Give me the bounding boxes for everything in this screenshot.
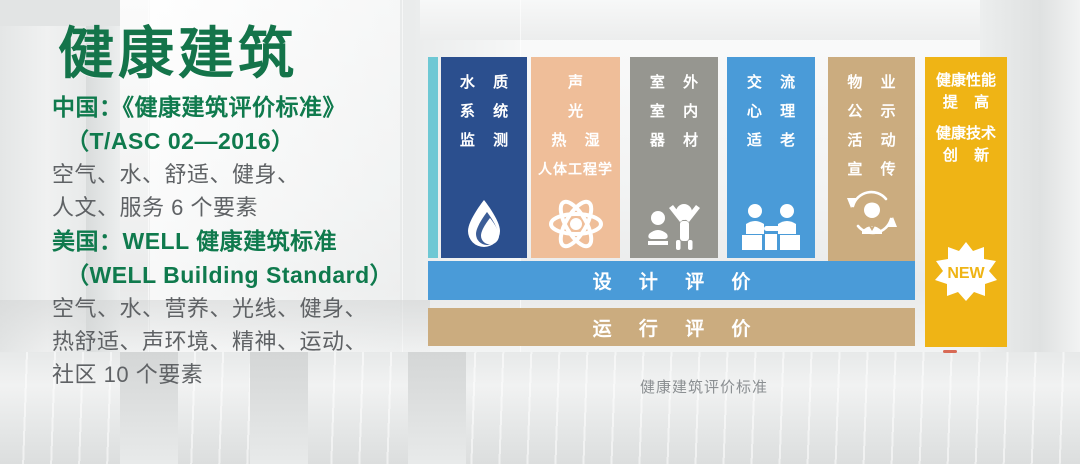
column-innovation-line-3: 健康技术 (936, 123, 996, 145)
column-management-line-1: 物 业 (840, 68, 902, 97)
column-management-line-4: 宣 传 (840, 155, 902, 184)
bar-design-evaluation[interactable]: 设 计 评 价 (428, 261, 915, 300)
bar-operation-evaluation[interactable]: 运 行 评 价 (428, 308, 915, 346)
column-fitness-line-2: 室 内 (643, 97, 705, 126)
column-water-line-3: 监 测 (453, 126, 515, 155)
column-physics-line-3: 热 湿 (544, 126, 606, 155)
column-fitness-line-3: 器 材 (643, 126, 705, 155)
slide-canvas: 健康建筑 中国：《健康建筑评价标准》 （T/ASC 02—2016） 空气、水、… (0, 0, 1080, 464)
column-innovation-line-2: 提 高 (937, 92, 995, 114)
diagram-column-innovation[interactable]: 健康性能 提 高 健康技术 创 新 NEW (925, 57, 1007, 347)
bar-operation-evaluation-label: 运 行 评 价 (582, 314, 762, 341)
people-exercise-icon (630, 196, 718, 250)
people-talking-icon (727, 202, 815, 250)
accent-strip (428, 57, 438, 258)
column-management-line-3: 活 动 (840, 126, 902, 155)
new-burst-icon: NEW (925, 241, 1007, 303)
person-cycle-icon (828, 186, 915, 240)
column-social-line-3: 适 老 (740, 126, 802, 155)
column-social-line-2: 心 理 (740, 97, 802, 126)
column-innovation-line-4: 创 新 (937, 145, 995, 167)
diagram-caption: 健康建筑评价标准 (640, 376, 768, 397)
diagram-column-social[interactable]: 交 流 心 理 适 老 (727, 57, 815, 258)
column-water-line-2: 系 统 (453, 97, 515, 126)
atom-icon (531, 198, 620, 250)
column-physics-line-4: 人体工程学 (538, 155, 613, 183)
water-drop-icon (441, 198, 527, 250)
column-innovation-line-1: 健康性能 (936, 70, 996, 92)
evaluation-standard-diagram: 水 质 系 统 监 测 声 光 热 湿 人体工程学 (0, 0, 1080, 464)
column-physics-line-1: 声 (561, 68, 590, 97)
column-water-line-1: 水 质 (453, 68, 515, 97)
new-badge-label: NEW (947, 265, 985, 282)
column-physics-line-2: 光 (561, 97, 590, 126)
column-social-line-1: 交 流 (740, 68, 802, 97)
column-management-line-2: 公 示 (840, 97, 902, 126)
red-marker (943, 350, 957, 353)
diagram-column-physics[interactable]: 声 光 热 湿 人体工程学 (531, 57, 620, 258)
diagram-column-water[interactable]: 水 质 系 统 监 测 (441, 57, 527, 258)
column-fitness-line-1: 室 外 (643, 68, 705, 97)
diagram-column-fitness[interactable]: 室 外 室 内 器 材 (630, 57, 718, 258)
bar-design-evaluation-label: 设 计 评 价 (582, 267, 762, 294)
